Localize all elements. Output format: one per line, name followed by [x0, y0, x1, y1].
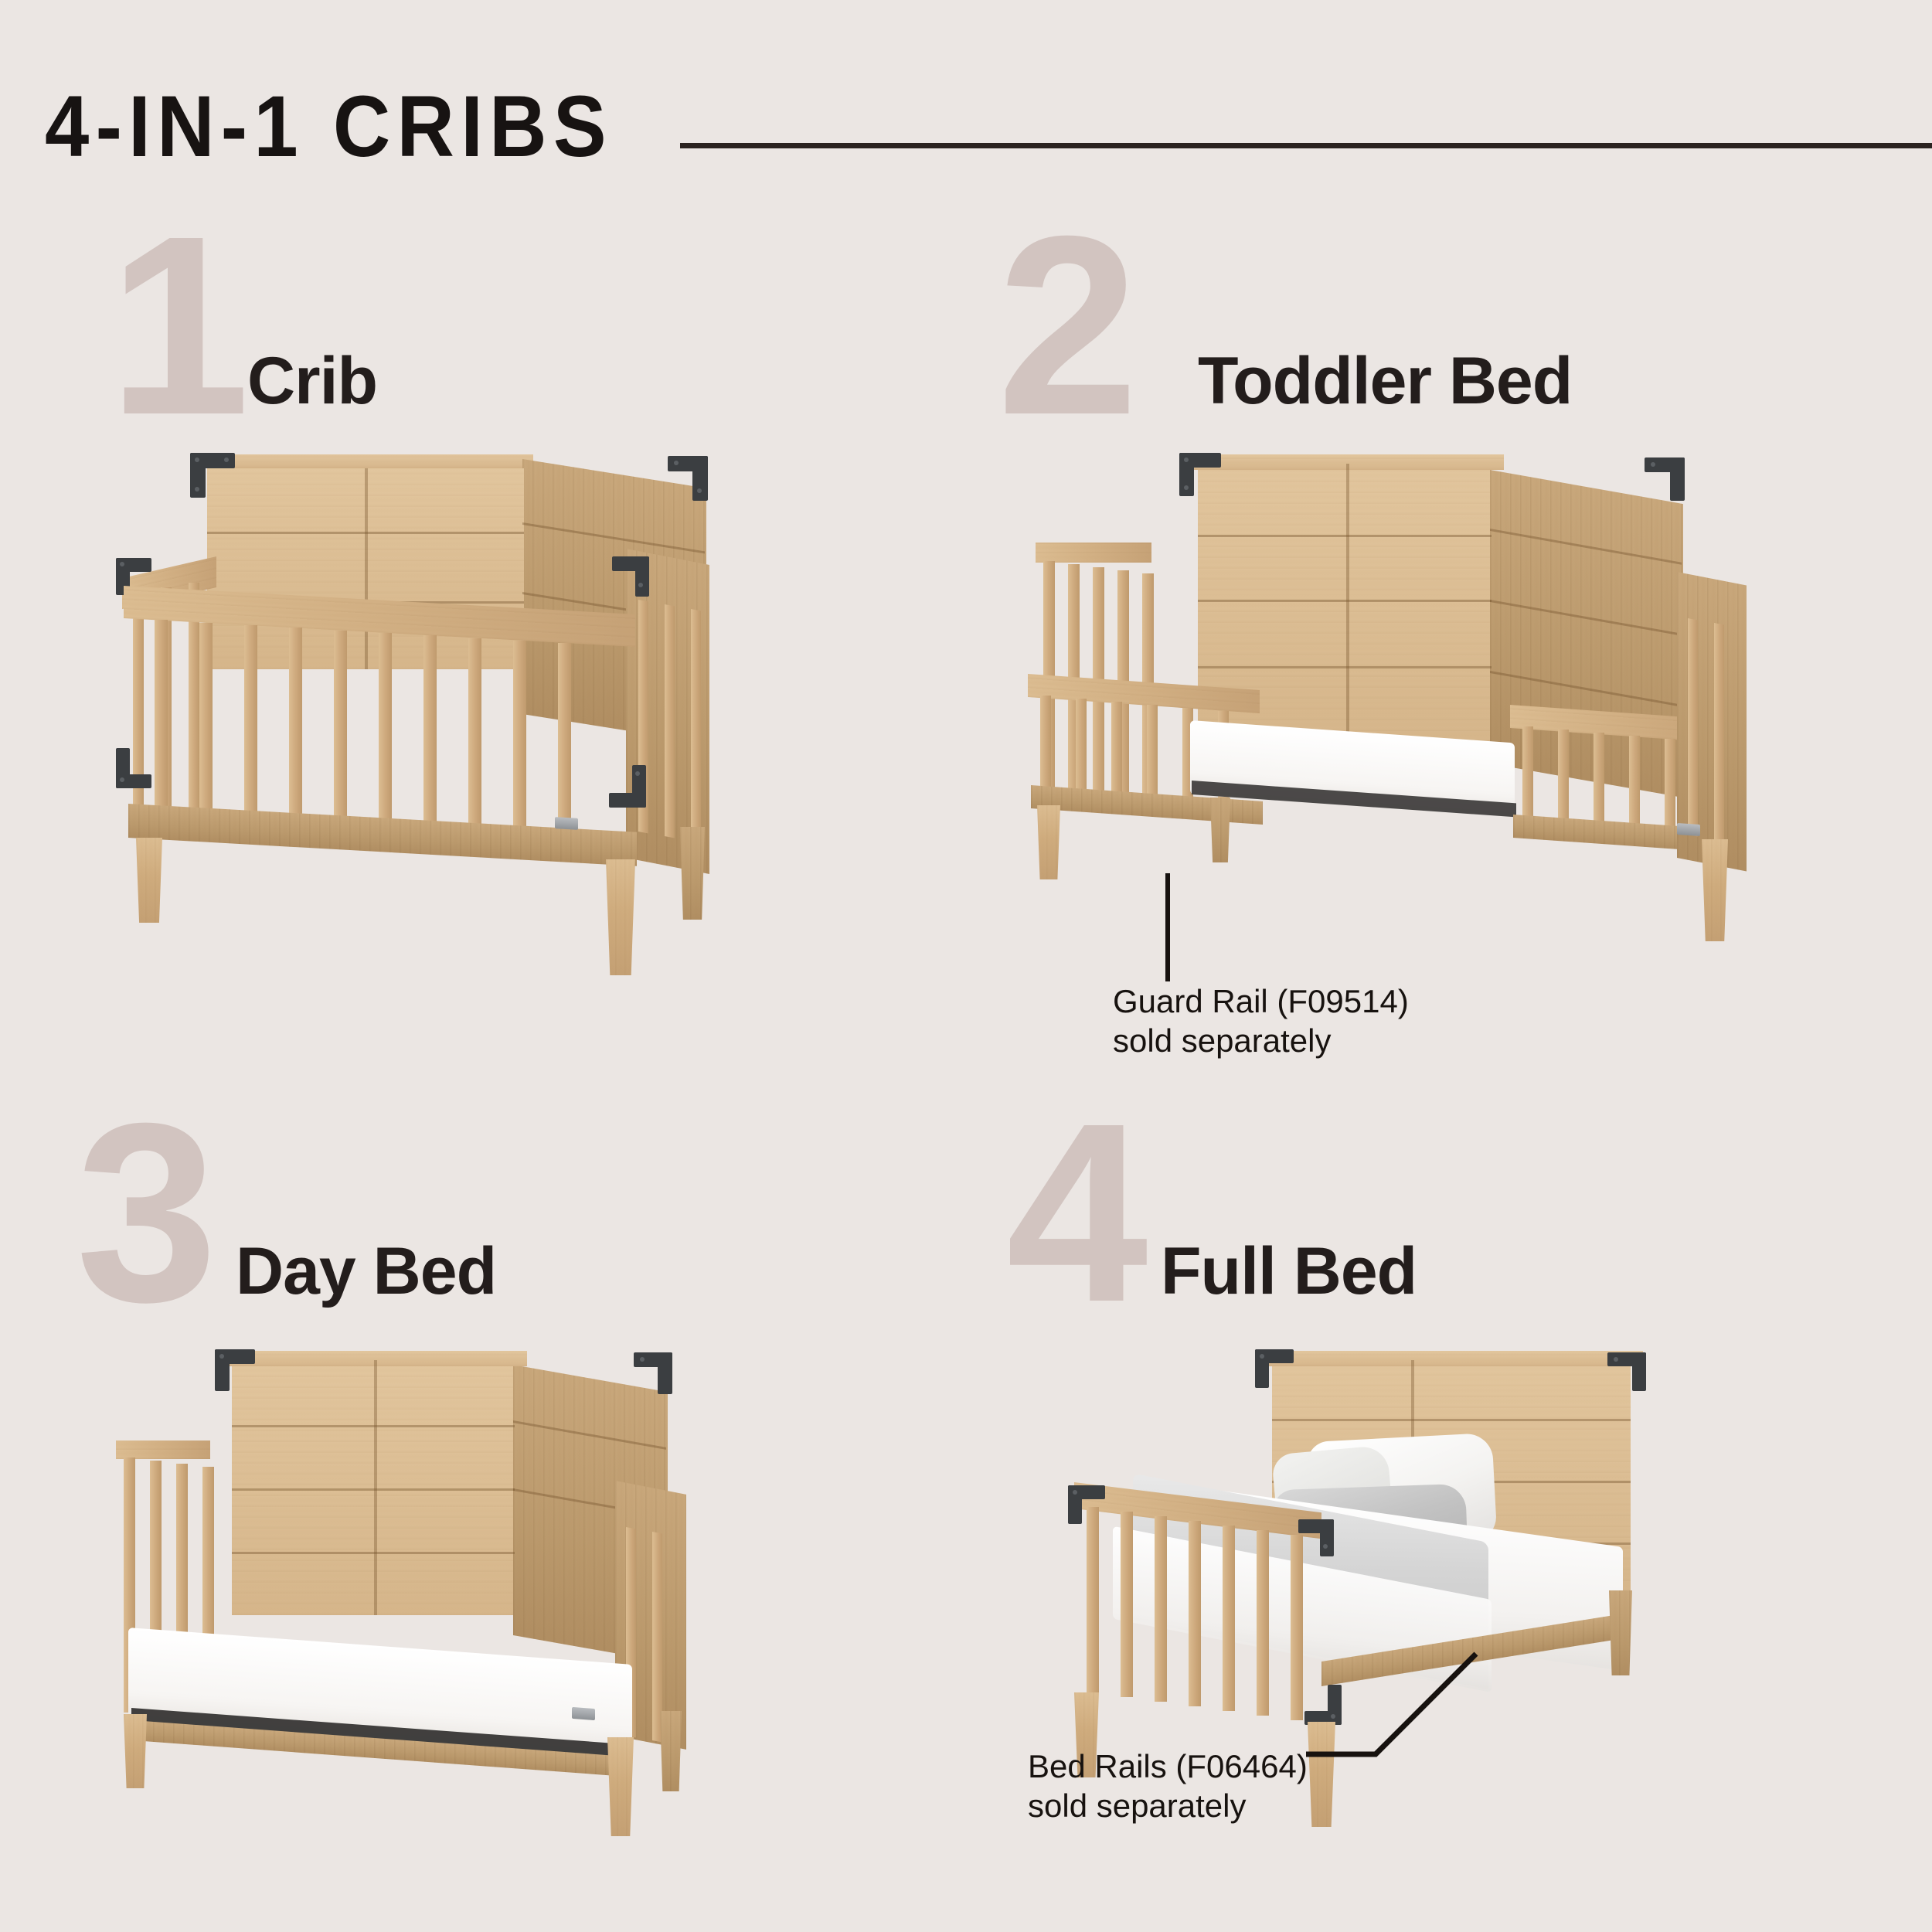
- callout-bed-rails-line2: sold separately: [1028, 1786, 1308, 1825]
- crib-leg-front-right: [606, 859, 635, 975]
- crib-front-slat: [468, 638, 481, 845]
- toddler-end-slat: [1688, 618, 1698, 837]
- bed-rails-leader-line: [1306, 1654, 1739, 1808]
- guard-rail-leader-line: [1165, 873, 1170, 981]
- page-title: 4-IN-1 CRIBS: [45, 83, 613, 170]
- brand-plate: [555, 817, 578, 830]
- daybed-right-slat: [652, 1532, 662, 1743]
- callout-bed-rails: Bed Rails (F06464) sold separately: [1028, 1747, 1308, 1825]
- fullbed-headboard-top-rail: [1261, 1351, 1643, 1366]
- toddler-headboard-seam-3: [1198, 666, 1492, 668]
- daybed-headboard-seam-2: [232, 1488, 515, 1491]
- toddler-headboard-seam-2: [1198, 600, 1492, 602]
- crib-end-slat: [665, 604, 675, 838]
- fullbed-footboard-slat: [1121, 1512, 1133, 1697]
- fullbed-footboard-slat: [1155, 1516, 1167, 1702]
- callout-guard-rail-line2: sold separately: [1113, 1021, 1409, 1060]
- daybed-leg-right: [607, 1737, 634, 1836]
- daybed-leg-left: [124, 1714, 147, 1788]
- toddler-headboard-seam-1: [1198, 535, 1492, 537]
- toddler-headboard-right: [1490, 470, 1683, 798]
- crib-front-slat: [379, 633, 392, 840]
- crib-front-slat: [155, 620, 168, 827]
- guard-rail-slat: [1147, 705, 1158, 805]
- toddler-left-end-top-rail: [1036, 543, 1151, 563]
- toddler-right-slat: [1594, 733, 1604, 833]
- panel-full-bed: 4 Full Bed: [997, 1128, 1917, 1909]
- panel-title-crib: Crib: [247, 348, 377, 414]
- callout-guard-rail-line1: Guard Rail (F09514): [1113, 981, 1409, 1021]
- crib-headboard-seam-v: [365, 468, 368, 669]
- crib-front-slat: [423, 635, 437, 842]
- product-illustration-day-bed: [93, 1345, 966, 1886]
- toddler-headboard-top-rail: [1185, 454, 1504, 470]
- guard-rail-slat: [1076, 699, 1087, 799]
- daybed-headboard-seam-1: [232, 1425, 515, 1427]
- panel-title-toddler-bed: Toddler Bed: [1198, 348, 1572, 414]
- daybed-leg-back-right: [660, 1711, 682, 1791]
- crib-end-slat: [691, 609, 701, 843]
- guard-rail-slat: [1111, 702, 1122, 802]
- toddler-right-slat: [1522, 726, 1533, 827]
- daybed-headboard-panel: [232, 1360, 515, 1615]
- daybed-headboard-seam-3: [232, 1552, 515, 1554]
- infographic-canvas: 4-IN-1 CRIBS 1 Crib: [0, 0, 1932, 1932]
- fullbed-headboard-seam-1: [1272, 1419, 1631, 1421]
- fullbed-footboard-slat: [1291, 1535, 1303, 1720]
- panel-number-2: 2: [997, 226, 1139, 424]
- toddler-right-slat: [1629, 736, 1640, 836]
- crib-front-slat: [289, 628, 302, 835]
- toddler-end-slat: [1714, 623, 1724, 842]
- panel-crib: 1 Crib: [93, 255, 966, 1113]
- crib-front-slat: [334, 631, 347, 838]
- crib-front-slat: [199, 623, 213, 830]
- crib-headboard-top-rail: [193, 454, 533, 468]
- brand-plate: [572, 1707, 595, 1720]
- toddler-leg-right: [1702, 839, 1728, 941]
- product-illustration-toddler-bed: [997, 448, 1917, 1005]
- fullbed-footboard-slat: [1257, 1530, 1269, 1716]
- toddler-headboard-seam-v: [1346, 464, 1349, 742]
- daybed-left-end-top-rail: [116, 1440, 210, 1459]
- crib-leg-back-right: [680, 827, 705, 920]
- panel-title-day-bed: Day Bed: [236, 1238, 496, 1304]
- callout-guard-rail: Guard Rail (F09514) sold separately: [1113, 981, 1409, 1060]
- panel-number-3: 3: [76, 1113, 218, 1311]
- toddler-leg-mid: [1210, 798, 1230, 862]
- fullbed-footboard-slat: [1189, 1521, 1201, 1706]
- panel-number-4: 4: [1006, 1113, 1148, 1311]
- callout-bed-rails-line1: Bed Rails (F06464): [1028, 1747, 1308, 1786]
- crib-front-slat: [513, 641, 526, 848]
- panel-day-bed: 3 Day Bed: [93, 1128, 966, 1909]
- panel-number-1: 1: [108, 226, 250, 424]
- crib-front-slat: [244, 625, 257, 832]
- toddler-right-slat: [1558, 730, 1569, 830]
- page-header: 4-IN-1 CRIBS: [0, 0, 1932, 232]
- fullbed-footboard-slat: [1087, 1507, 1099, 1692]
- panel-title-full-bed: Full Bed: [1161, 1238, 1417, 1304]
- brand-plate: [1677, 823, 1700, 836]
- toddler-right-slat: [1665, 739, 1675, 839]
- panel-toddler-bed: 2 Toddler Bed: [997, 255, 1917, 1113]
- header-divider: [680, 143, 1932, 148]
- crib-leg-front-left: [136, 838, 162, 923]
- daybed-headboard-seam-v: [374, 1360, 377, 1615]
- toddler-leg-left: [1037, 805, 1060, 879]
- guard-rail-slat: [1040, 696, 1051, 796]
- fullbed-footboard-slat: [1223, 1526, 1235, 1711]
- product-illustration-crib: [93, 440, 966, 1051]
